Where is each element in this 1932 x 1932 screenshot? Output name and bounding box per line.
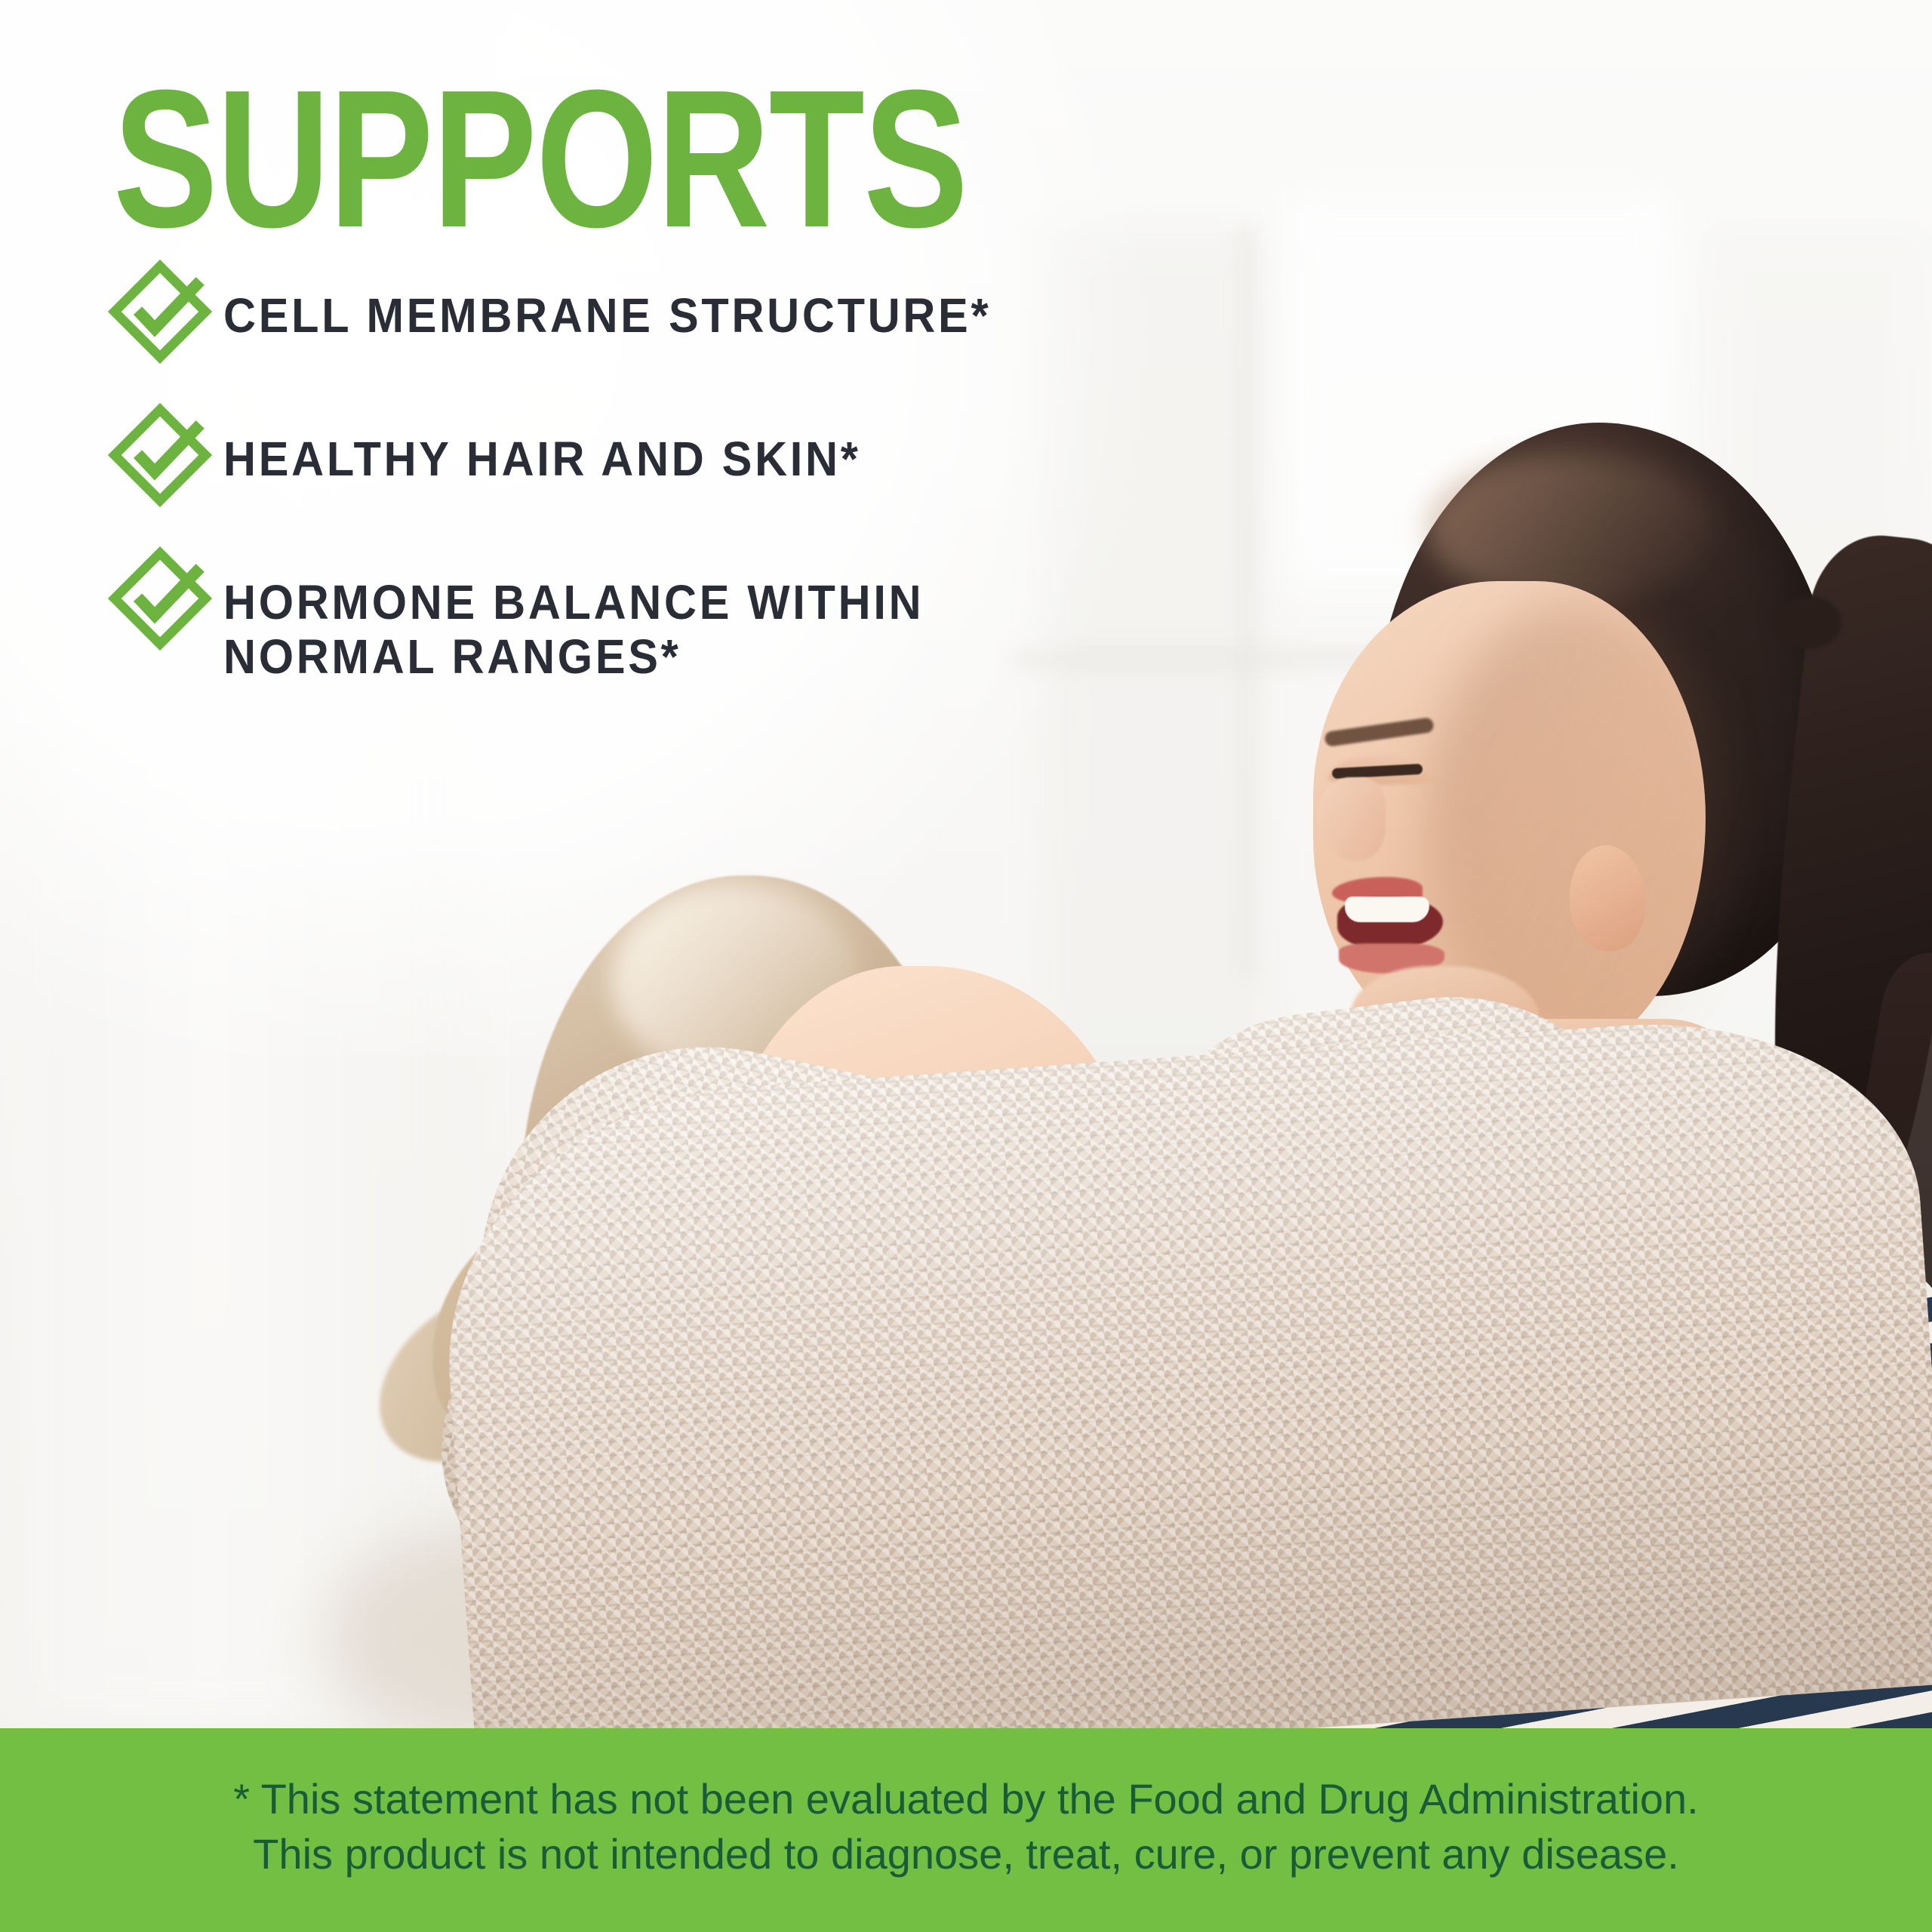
list-item-label: HEALTHY HAIR AND SKIN* — [223, 432, 861, 487]
check-diamond-icon — [107, 402, 213, 508]
mother-nose — [1318, 777, 1386, 860]
knit-shading — [431, 1006, 1932, 1728]
mother-hair-highlight — [1426, 453, 1713, 604]
list-item: CELL MEMBRANE STRUCTURE* — [113, 275, 1381, 365]
mother-teeth — [1345, 897, 1429, 922]
mother-ear — [1570, 845, 1645, 951]
list-item-label: HORMONE BALANCE WITHIN NORMAL RANGES* — [223, 576, 924, 684]
list-item: HEALTHY HAIR AND SKIN* — [113, 419, 1381, 508]
check-diamond-icon — [107, 259, 213, 365]
list-item: HORMONE BALANCE WITHIN NORMAL RANGES* — [113, 562, 1381, 684]
benefits-list: CELL MEMBRANE STRUCTURE* HEALTHY HAIR AN… — [113, 275, 1381, 684]
product-benefit-poster: SUPPORTS CELL MEMBRANE STRUCTURE* HEALTH… — [0, 0, 1932, 1932]
list-item-label: CELL MEMBRANE STRUCTURE* — [223, 289, 991, 343]
disclaimer-bar: * This statement has not been evaluated … — [0, 1728, 1932, 1932]
fda-disclaimer-text: * This statement has not been evaluated … — [173, 1772, 1759, 1882]
knit-cardigan — [431, 1006, 1932, 1728]
mother-hair-tie — [1774, 596, 1841, 649]
page-title: SUPPORTS — [113, 79, 967, 240]
check-diamond-icon — [107, 546, 213, 651]
